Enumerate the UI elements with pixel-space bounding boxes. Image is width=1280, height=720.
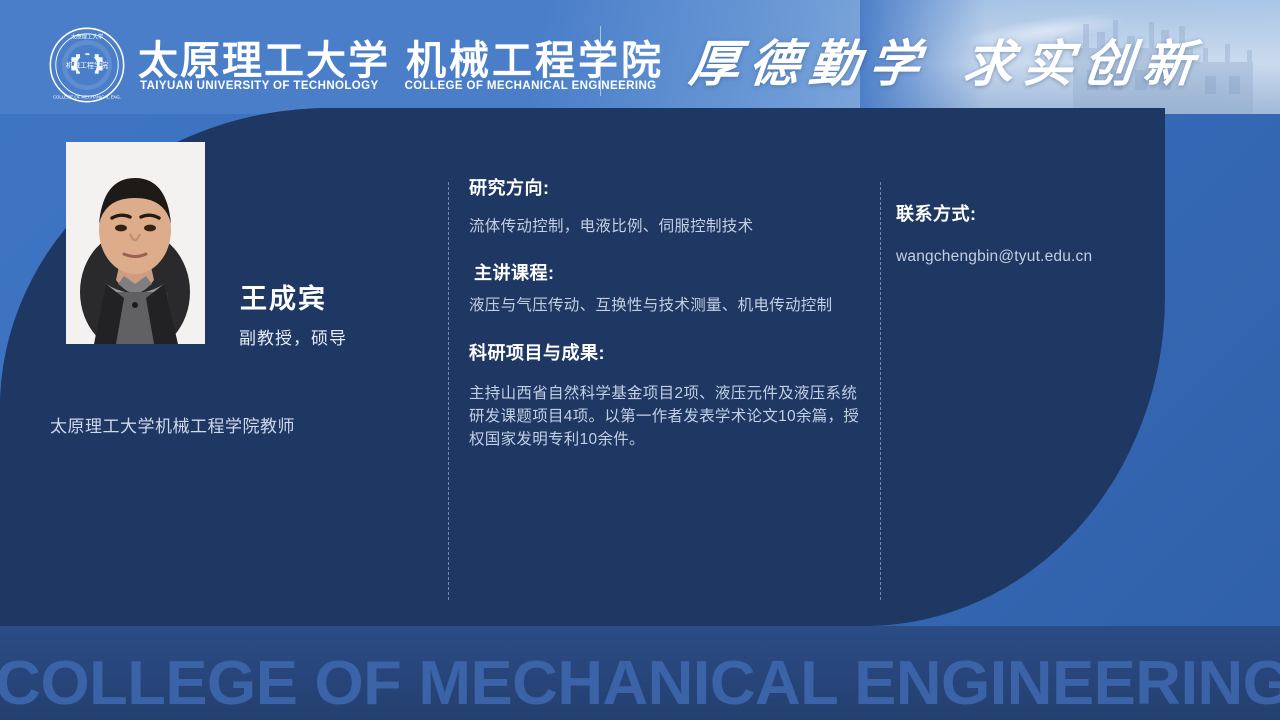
details-column: 研究方向: 流体传动控制，电液比例、伺服控制技术 主讲课程: 液压与气压传动、互… bbox=[469, 175, 869, 452]
svg-text:COLLEGE OF MECHANICAL ENG.: COLLEGE OF MECHANICAL ENG. bbox=[53, 95, 121, 100]
motto-left: 厚德勤学 bbox=[687, 36, 933, 92]
brand-university-cn: 太原理工大学 bbox=[138, 38, 390, 83]
contact-column: 联系方式: wangchengbin@tyut.edu.cn bbox=[896, 200, 1226, 266]
brand-college-en: COLLEGE OF MECHANICAL ENGINEERING bbox=[405, 80, 657, 92]
contact-email[interactable]: wangchengbin@tyut.edu.cn bbox=[896, 248, 1226, 266]
svg-text:机械工程学院: 机械工程学院 bbox=[66, 60, 108, 69]
research-heading: 研究方向: bbox=[469, 175, 869, 201]
professor-affiliation: 太原理工大学机械工程学院教师 bbox=[50, 412, 295, 437]
professor-title: 副教授，硕导 bbox=[239, 324, 347, 349]
projects-heading: 科研项目与成果: bbox=[469, 340, 869, 366]
brand-university-en: TAIYUAN UNIVERSITY OF TECHNOLOGY bbox=[140, 80, 379, 92]
header-banner: 机械工程学院 太原理工大学 COLLEGE OF MECHANICAL ENG.… bbox=[0, 0, 1280, 114]
university-motto: 厚德勤学求实创新 bbox=[686, 24, 1208, 96]
brand-college-cn: 机械工程学院 bbox=[406, 39, 664, 83]
professor-name: 王成宾 bbox=[240, 277, 327, 316]
column-divider-1 bbox=[448, 182, 449, 600]
motto-right: 求实创新 bbox=[961, 36, 1207, 92]
avatar bbox=[66, 142, 205, 344]
footer-title: COLLEGE OF MECHANICAL ENGINEERING bbox=[0, 648, 1280, 719]
brand-chinese: 太原理工大学机械工程学院 bbox=[138, 28, 664, 86]
courses-heading: 主讲课程: bbox=[469, 260, 869, 286]
courses-body: 液压与气压传动、互换性与技术测量、机电传动控制 bbox=[469, 294, 869, 317]
footer-banner: COLLEGE OF MECHANICAL ENGINEERING bbox=[0, 626, 1280, 720]
research-body: 流体传动控制，电液比例、伺服控制技术 bbox=[469, 215, 869, 238]
brand-english: TAIYUAN UNIVERSITY OF TECHNOLOGYCOLLEGE … bbox=[140, 80, 657, 92]
header-divider bbox=[600, 26, 601, 96]
contact-heading: 联系方式: bbox=[896, 200, 1226, 226]
university-seal-icon: 机械工程学院 太原理工大学 COLLEGE OF MECHANICAL ENG. bbox=[48, 26, 126, 104]
column-divider-2 bbox=[880, 182, 881, 600]
slide-root: 机械工程学院 太原理工大学 COLLEGE OF MECHANICAL ENG.… bbox=[0, 0, 1280, 720]
projects-body: 主持山西省自然科学基金项目2项、液压元件及液压系统研发课题项目4项。以第一作者发… bbox=[469, 382, 869, 452]
